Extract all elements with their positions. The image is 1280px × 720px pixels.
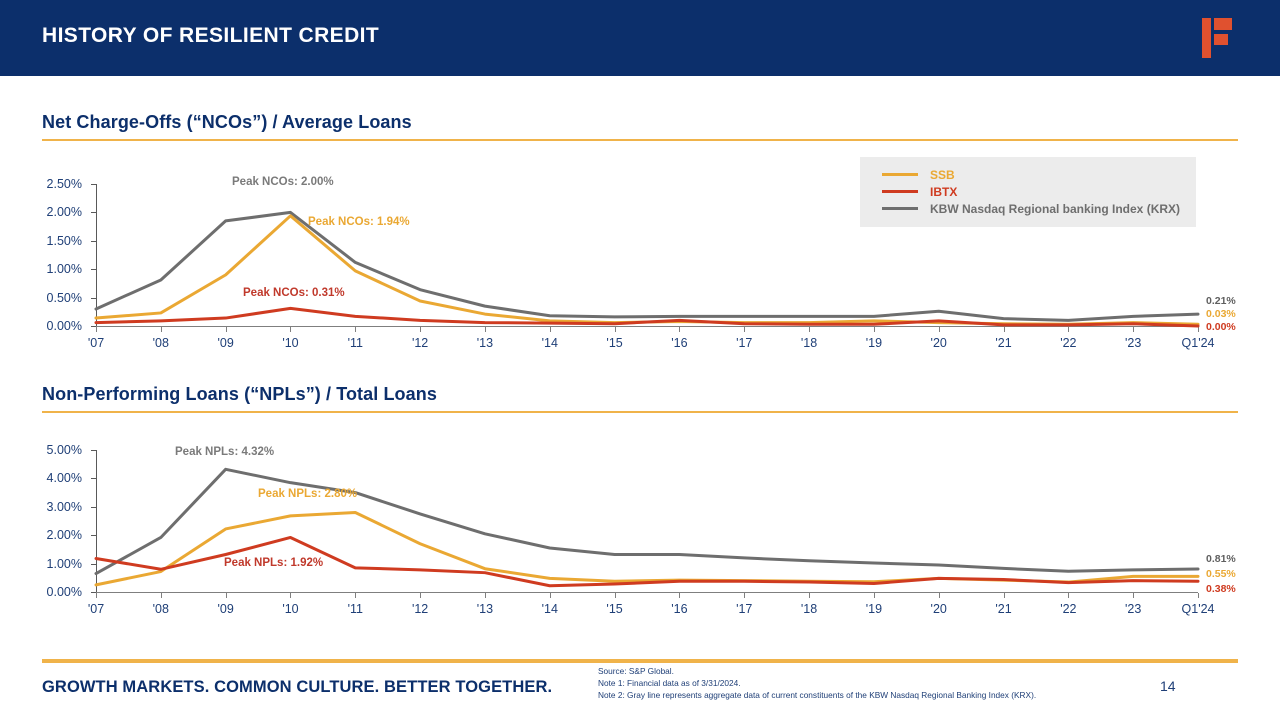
footer-note-2: Note 2: Gray line represents aggregate d… <box>598 690 1036 702</box>
slide-header: HISTORY OF RESILIENT CREDIT <box>0 0 1280 76</box>
legend-label-ibtx: IBTX <box>930 185 957 199</box>
footer-note-source: Source: S&P Global. <box>598 666 1036 678</box>
legend-label-ssb: SSB <box>930 168 955 182</box>
peak-annotation: Peak NPLs: 4.32% <box>175 446 274 458</box>
section-rule <box>42 411 1238 413</box>
series-end-value-label: 0.21% <box>1206 295 1236 307</box>
series-line <box>96 512 1198 584</box>
series-end-value-label: 0.38% <box>1206 583 1236 595</box>
chart-npls: 0.00%1.00%2.00%3.00%4.00%5.00%'07'08'09'… <box>0 432 1280 637</box>
series-end-value-label: 0.81% <box>1206 553 1236 565</box>
peak-annotation: Peak NPLs: 1.92% <box>224 557 323 569</box>
page-title: HISTORY OF RESILIENT CREDIT <box>42 24 379 48</box>
chart-legend: SSB IBTX KBW Nasdaq Regional banking Ind… <box>860 157 1196 227</box>
chart-plot-lines <box>0 432 1280 637</box>
series-end-value-label: 0.55% <box>1206 568 1236 580</box>
peak-annotation: Peak NCOs: 1.94% <box>308 216 410 228</box>
series-end-value-label: 0.03% <box>1206 308 1236 320</box>
series-end-value-label: 0.00% <box>1206 321 1236 333</box>
section-rule <box>42 139 1238 141</box>
peak-annotation: Peak NCOs: 2.00% <box>232 176 334 188</box>
peak-annotation: Peak NPLs: 2.80% <box>258 488 357 500</box>
legend-item: KBW Nasdaq Regional banking Index (KRX) <box>882 200 1180 217</box>
legend-item: IBTX <box>882 183 1180 200</box>
legend-swatch-ibtx <box>882 190 918 193</box>
f-logo-icon <box>1200 14 1242 62</box>
section-title-npls: Non-Performing Loans (“NPLs”) / Total Lo… <box>42 384 1238 405</box>
peak-annotation: Peak NCOs: 0.31% <box>243 287 345 299</box>
footer-rule <box>42 659 1238 663</box>
slide: HISTORY OF RESILIENT CREDIT Net Charge-O… <box>0 0 1280 720</box>
legend-item: SSB <box>882 166 1180 183</box>
legend-swatch-krx <box>882 207 918 210</box>
footer-tagline: GROWTH MARKETS. COMMON CULTURE. BETTER T… <box>42 678 552 697</box>
section-heading-ncos: Net Charge-Offs (“NCOs”) / Average Loans <box>42 112 1238 141</box>
page-number: 14 <box>1160 678 1176 694</box>
series-line <box>96 216 1198 324</box>
legend-label-krx: KBW Nasdaq Regional banking Index (KRX) <box>930 202 1180 216</box>
legend-swatch-ssb <box>882 173 918 176</box>
section-heading-npls: Non-Performing Loans (“NPLs”) / Total Lo… <box>42 384 1238 413</box>
series-line <box>96 212 1198 320</box>
footer-note-1: Note 1: Financial data as of 3/31/2024. <box>598 678 1036 690</box>
footer-notes: Source: S&P Global. Note 1: Financial da… <box>598 666 1036 701</box>
section-title-ncos: Net Charge-Offs (“NCOs”) / Average Loans <box>42 112 1238 133</box>
